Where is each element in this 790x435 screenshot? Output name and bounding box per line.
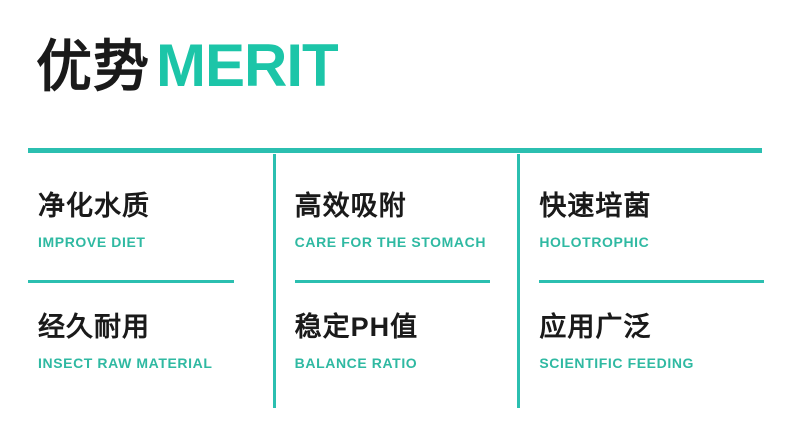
feature-title-en: INSECT RAW MATERIAL bbox=[38, 355, 273, 372]
feature-title-cn: 净化水质 bbox=[38, 190, 273, 222]
feature-title-cn: 经久耐用 bbox=[38, 311, 273, 343]
header-divider bbox=[28, 148, 762, 153]
feature-title-cn: 快速培菌 bbox=[539, 190, 762, 222]
feature-title-en: IMPROVE DIET bbox=[38, 234, 273, 251]
feature-item-1: 净化水质 IMPROVE DIET bbox=[28, 160, 273, 281]
feature-title-cn: 稳定PH值 bbox=[295, 311, 518, 343]
feature-title-cn: 高效吸附 bbox=[295, 190, 518, 222]
feature-title-en: BALANCE RATIO bbox=[295, 355, 518, 372]
merit-feature-panel: 优势 MERIT 净化水质 IMPROVE DIET 高效吸附 CARE FOR… bbox=[0, 0, 790, 435]
page-title-cn: 优势 bbox=[36, 39, 150, 95]
feature-title-en: SCIENTIFIC FEEDING bbox=[539, 355, 762, 372]
feature-item-2: 高效吸附 CARE FOR THE STOMACH bbox=[273, 160, 518, 281]
feature-title-en: HOLOTROPHIC bbox=[539, 234, 762, 251]
feature-item-3: 快速培菌 HOLOTROPHIC bbox=[517, 160, 762, 281]
page-title-en: MERIT bbox=[156, 36, 338, 96]
feature-item-4: 经久耐用 INSECT RAW MATERIAL bbox=[28, 281, 273, 402]
page-title: 优势 MERIT bbox=[36, 36, 338, 96]
feature-item-6: 应用广泛 SCIENTIFIC FEEDING bbox=[517, 281, 762, 402]
feature-title-cn: 应用广泛 bbox=[539, 311, 762, 343]
feature-title-en: CARE FOR THE STOMACH bbox=[295, 234, 518, 251]
feature-item-5: 稳定PH值 BALANCE RATIO bbox=[273, 281, 518, 402]
feature-grid: 净化水质 IMPROVE DIET 高效吸附 CARE FOR THE STOM… bbox=[28, 160, 762, 402]
